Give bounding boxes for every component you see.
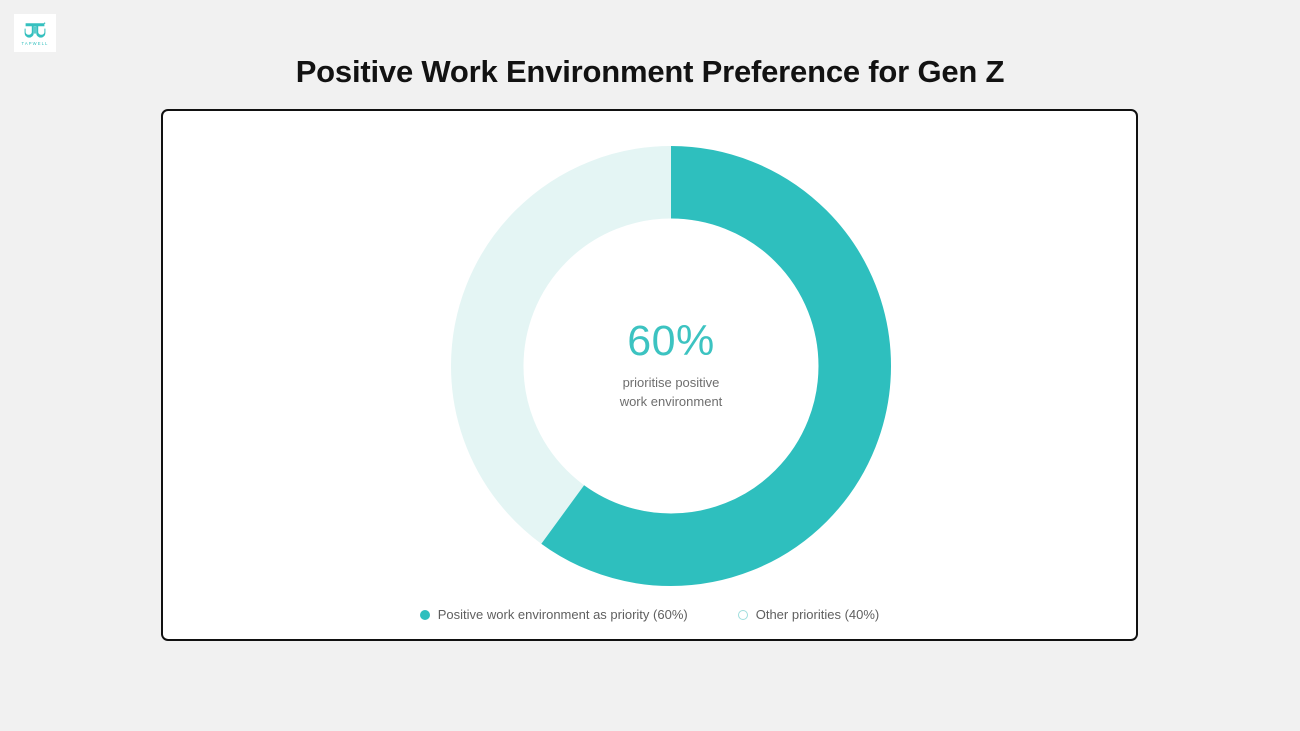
chart-legend: Positive work environment as priority (6… — [163, 607, 1136, 622]
hollow-dot-icon — [738, 610, 748, 620]
page-title: Positive Work Environment Preference for… — [0, 54, 1300, 90]
tapwell-logo: TAPWELL — [14, 14, 56, 52]
tapwell-logo-icon — [24, 22, 46, 40]
chart-card: 60% prioritise positive work environment… — [161, 109, 1138, 641]
center-caption: prioritise positive work environment — [620, 374, 723, 412]
donut-chart: 60% prioritise positive work environment — [450, 145, 892, 587]
donut-center-label: 60% prioritise positive work environment — [450, 145, 892, 587]
tapwell-wordmark: TAPWELL — [22, 42, 49, 46]
center-percent-value: 60% — [627, 320, 715, 363]
screenshot-root: TAPWELL Positive Work Environment Prefer… — [0, 0, 1300, 731]
legend-label: Positive work environment as priority (6… — [438, 607, 688, 622]
center-caption-line-2: work environment — [620, 393, 723, 412]
filled-dot-icon — [420, 610, 430, 620]
legend-item-positive-work-environment[interactable]: Positive work environment as priority (6… — [420, 607, 688, 622]
legend-item-other-priorities[interactable]: Other priorities (40%) — [738, 607, 880, 622]
legend-label: Other priorities (40%) — [756, 607, 880, 622]
center-caption-line-1: prioritise positive — [620, 374, 723, 393]
